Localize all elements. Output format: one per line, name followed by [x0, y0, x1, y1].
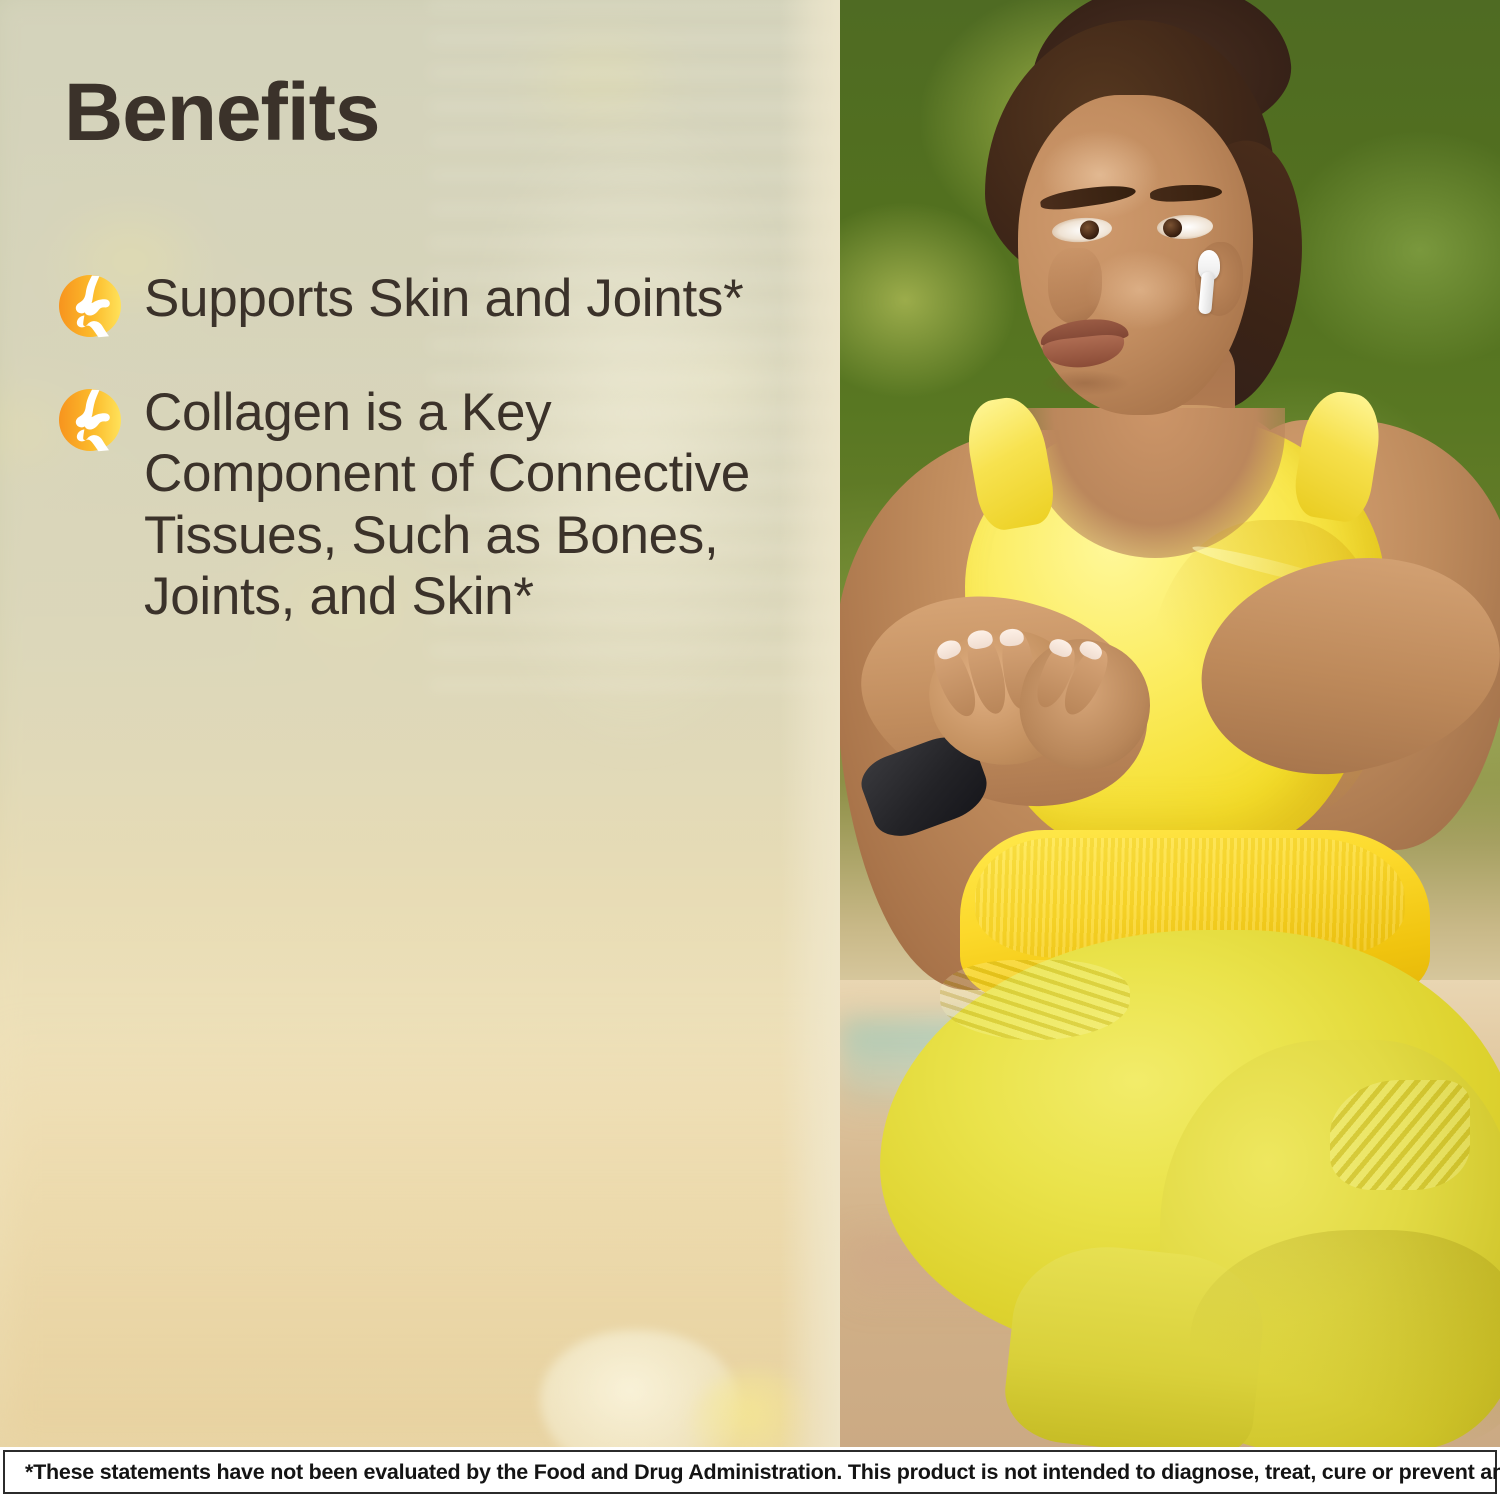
list-item: Collagen is a Key Component of Connectiv…	[58, 382, 778, 628]
fda-disclaimer-text: *These statements have not been evaluate…	[25, 1460, 1500, 1485]
legging-shading	[1190, 1230, 1500, 1447]
chin-shadow	[1040, 370, 1130, 396]
knee-joint-icon	[58, 388, 122, 452]
pupil-right	[1163, 218, 1183, 238]
list-item-label: Collagen is a Key Component of Connectiv…	[144, 382, 778, 628]
panel-content: Benefits	[0, 0, 840, 1447]
page-title: Benefits	[64, 72, 380, 154]
knee-joint-icon	[58, 274, 122, 338]
product-benefits-infographic: Benefits	[0, 0, 1500, 1500]
legging-fold	[940, 960, 1130, 1040]
legging-fold	[1330, 1080, 1470, 1190]
list-item: Supports Skin and Joints*	[58, 268, 778, 338]
fda-disclaimer-bar: *These statements have not been evaluate…	[3, 1450, 1497, 1494]
list-item-label: Supports Skin and Joints*	[144, 268, 743, 329]
pupil-left	[1079, 220, 1099, 240]
benefits-list: Supports Skin and Joints*	[58, 268, 778, 672]
